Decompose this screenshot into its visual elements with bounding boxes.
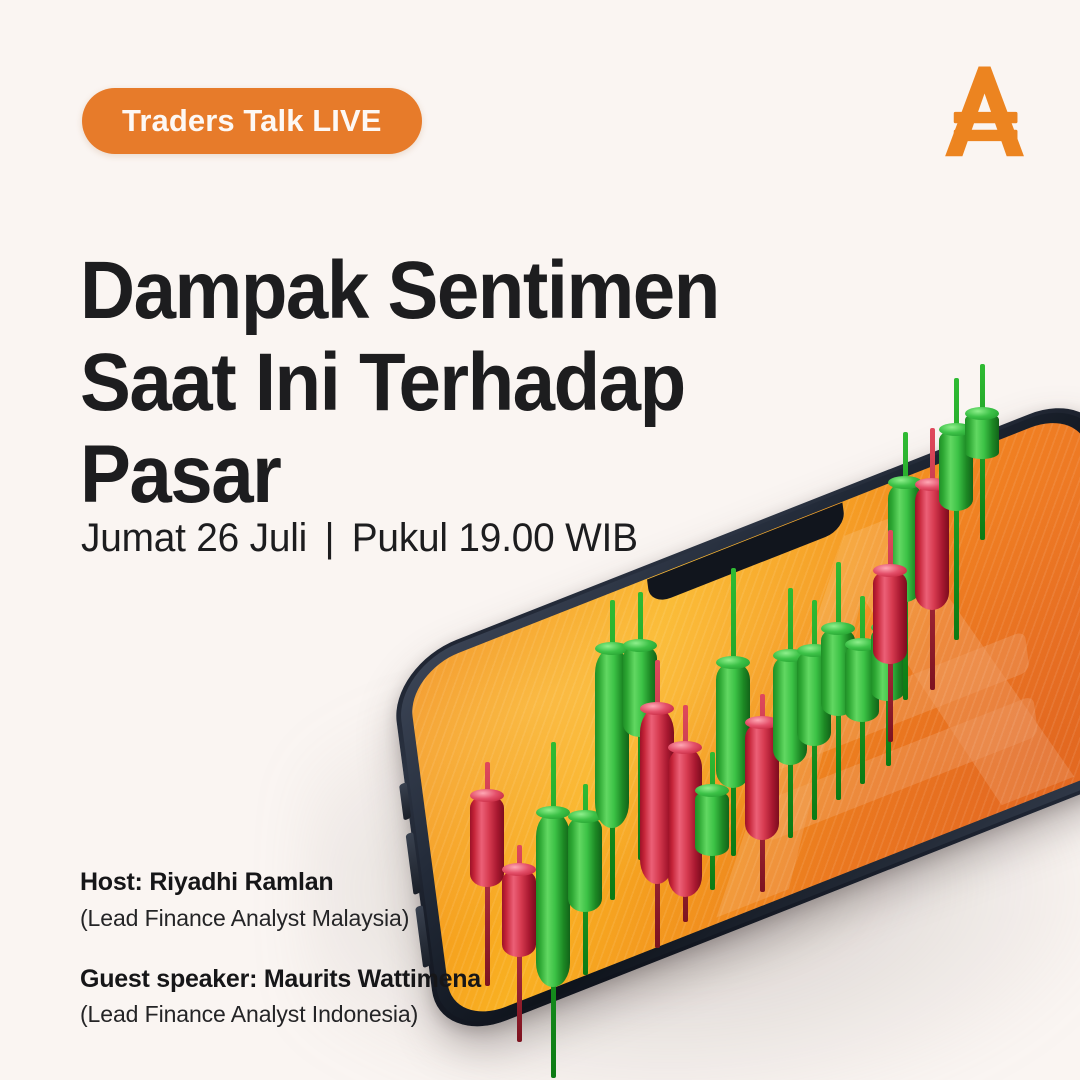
candlestick-cap [623, 639, 657, 652]
candlestick-wick [731, 568, 736, 856]
candlestick-14 [821, 0, 855, 1080]
candlestick-wick [954, 378, 959, 640]
candlestick-13 [797, 0, 831, 1080]
candlestick-15 [845, 0, 879, 1080]
candlestick-11 [745, 0, 779, 1080]
candlestick-cap [871, 621, 905, 634]
candlestick-body [623, 645, 657, 737]
poster-canvas: Traders Talk LIVE Dampak Sentimen Saat I… [0, 0, 1080, 1080]
guest-credit: Guest speaker: Maurits Wattimena (Lead F… [80, 963, 481, 1032]
candlestick-cap [536, 806, 570, 819]
page-title: Dampak Sentimen Saat Ini Terhadap Pasar [80, 245, 787, 520]
candlestick-cap [640, 702, 674, 715]
live-badge: Traders Talk LIVE [82, 88, 422, 154]
candlestick-8 [668, 0, 702, 1080]
candlestick-10 [716, 0, 750, 1080]
letter-a-logo-icon [930, 58, 1038, 168]
candlestick-body [716, 662, 750, 788]
host-name: Host: Riyadhi Ramlan [80, 866, 481, 899]
event-date: Jumat 26 Juli [81, 516, 307, 560]
headline-line-2: Saat Ini Terhadap [80, 337, 787, 429]
candlestick-body [536, 812, 570, 987]
candlestick-16 [871, 0, 905, 1080]
candlestick-body [888, 482, 922, 602]
candlestick-body [502, 869, 536, 957]
guest-role: (Lead Finance Analyst Indonesia) [80, 998, 481, 1031]
candlestick-body [965, 413, 999, 459]
candlestick-body [695, 790, 729, 856]
event-datetime: Jumat 26 Juli | Pukul 19.00 WIB [81, 516, 638, 561]
headline-line-3: Pasar [80, 429, 787, 521]
candlestick-body [640, 708, 674, 884]
headline-line-1: Dampak Sentimen [80, 245, 787, 337]
candlestick-cap [502, 863, 536, 876]
candlestick-body [745, 722, 779, 840]
candlestick-cap [797, 644, 831, 657]
host-role: (Lead Finance Analyst Malaysia) [80, 902, 481, 935]
candlestick-body [915, 484, 949, 610]
candlestick-body [668, 747, 702, 897]
candlestick-body [595, 648, 629, 828]
candlestick-cap [595, 642, 629, 655]
candlestick-cap [965, 407, 999, 420]
host-credit: Host: Riyadhi Ramlan (Lead Finance Analy… [80, 866, 481, 935]
candlestick-17 [888, 0, 922, 1080]
candlestick-cap [745, 716, 779, 729]
candlestick-body [939, 429, 973, 511]
candlestick-wick [485, 762, 490, 986]
candlestick-12 [773, 0, 807, 1080]
candlestick-cap [821, 622, 855, 635]
live-badge-label: Traders Talk LIVE [122, 103, 382, 139]
candlestick-18 [873, 0, 907, 1080]
candlestick-cap [915, 478, 949, 491]
candlestick-body [821, 628, 855, 716]
candlestick-body [568, 816, 602, 912]
candlestick-cap [695, 784, 729, 797]
candlestick-cap [873, 564, 907, 577]
candlestick-cap [668, 741, 702, 754]
candlestick-wick [583, 784, 588, 975]
candlestick-wick [551, 742, 556, 1078]
candlestick-9 [695, 0, 729, 1080]
event-time: Pukul 19.00 WIB [352, 516, 638, 560]
datetime-separator: | [318, 516, 341, 560]
candlestick-wick [980, 364, 985, 540]
candlestick-cap [568, 810, 602, 823]
candlestick-wick [517, 845, 522, 1042]
candlestick-body [773, 655, 807, 765]
candlestick-wick [860, 596, 865, 784]
candlestick-wick [930, 428, 935, 690]
candlestick-wick [683, 705, 688, 922]
candlestick-wick [710, 752, 715, 890]
candlestick-body [873, 570, 907, 664]
candlestick-wick [788, 588, 793, 838]
candlestick-7 [640, 0, 674, 1080]
candlestick-body [845, 644, 879, 722]
candlestick-cap [845, 638, 879, 651]
candlestick-wick [760, 694, 765, 892]
phone-side-button [399, 782, 411, 821]
candlestick-cap [716, 656, 750, 669]
candlestick-cap [470, 789, 504, 802]
candlestick-wick [655, 660, 660, 948]
candlestick-cap [939, 423, 973, 436]
candlestick-wick [610, 600, 615, 900]
candlestick-body [797, 650, 831, 746]
credits-block: Host: Riyadhi Ramlan (Lead Finance Analy… [80, 866, 481, 1032]
candlestick-wick [886, 585, 891, 766]
candlestick-wick [903, 432, 908, 700]
candlestick-cap [773, 649, 807, 662]
candlestick-wick [888, 530, 893, 742]
candlestick-wick [638, 592, 643, 860]
candlestick-body [871, 627, 905, 701]
guest-name: Guest speaker: Maurits Wattimena [80, 963, 481, 996]
candlestick-wick [812, 600, 817, 820]
candlestick-wick [836, 562, 841, 800]
candlestick-cap [888, 476, 922, 489]
